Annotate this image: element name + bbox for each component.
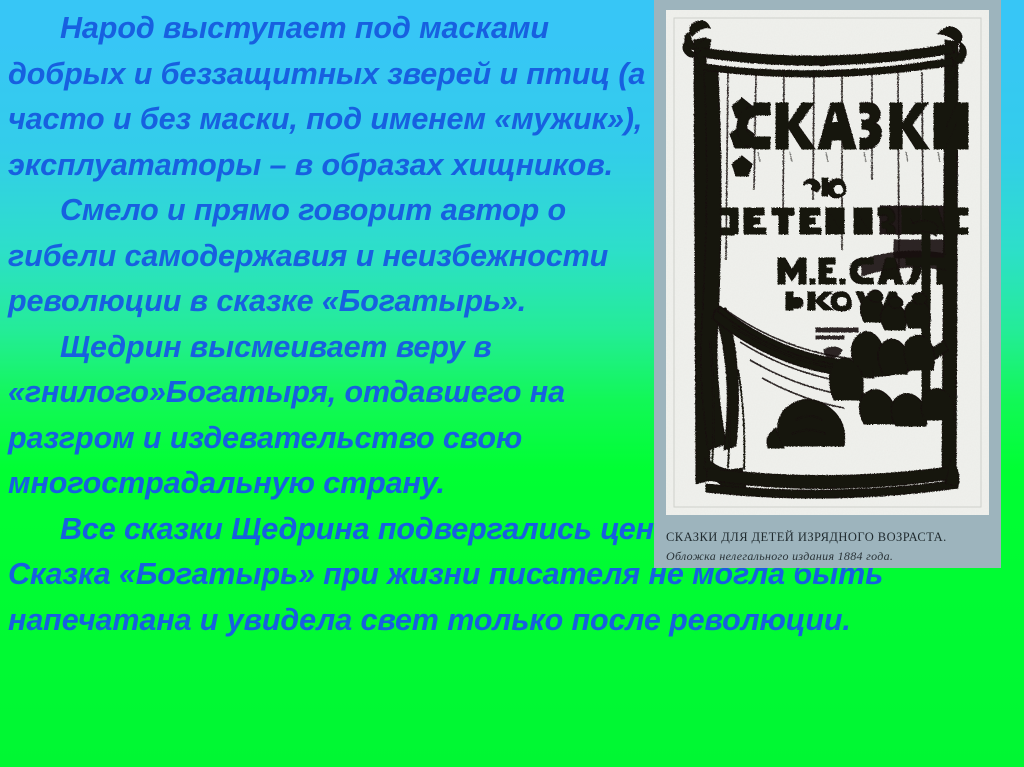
caption-subtitle: Обложка нелегального издания 1884 года.	[666, 548, 991, 564]
paragraph-1: Народ выступает под масками добрых и без…	[0, 6, 660, 188]
book-cover-image	[666, 10, 989, 515]
paragraph-2: Смело и прямо говорит автор о гибели сам…	[0, 188, 660, 325]
presentation-slide: Народ выступает под масками добрых и без…	[0, 0, 1024, 767]
book-cover-figure: СКАЗКИ ДЛЯ ДЕТЕЙ ИЗРЯДНОГО ВОЗРАСТА. Обл…	[654, 0, 1001, 568]
figure-caption: СКАЗКИ ДЛЯ ДЕТЕЙ ИЗРЯДНОГО ВОЗРАСТА. Обл…	[666, 528, 991, 564]
paragraph-3: Щедрин высмеивает веру в «гнилого»Богаты…	[0, 325, 660, 507]
caption-title: СКАЗКИ ДЛЯ ДЕТЕЙ ИЗРЯДНОГО ВОЗРАСТА.	[666, 528, 991, 546]
book-cover-illustration	[666, 10, 989, 515]
